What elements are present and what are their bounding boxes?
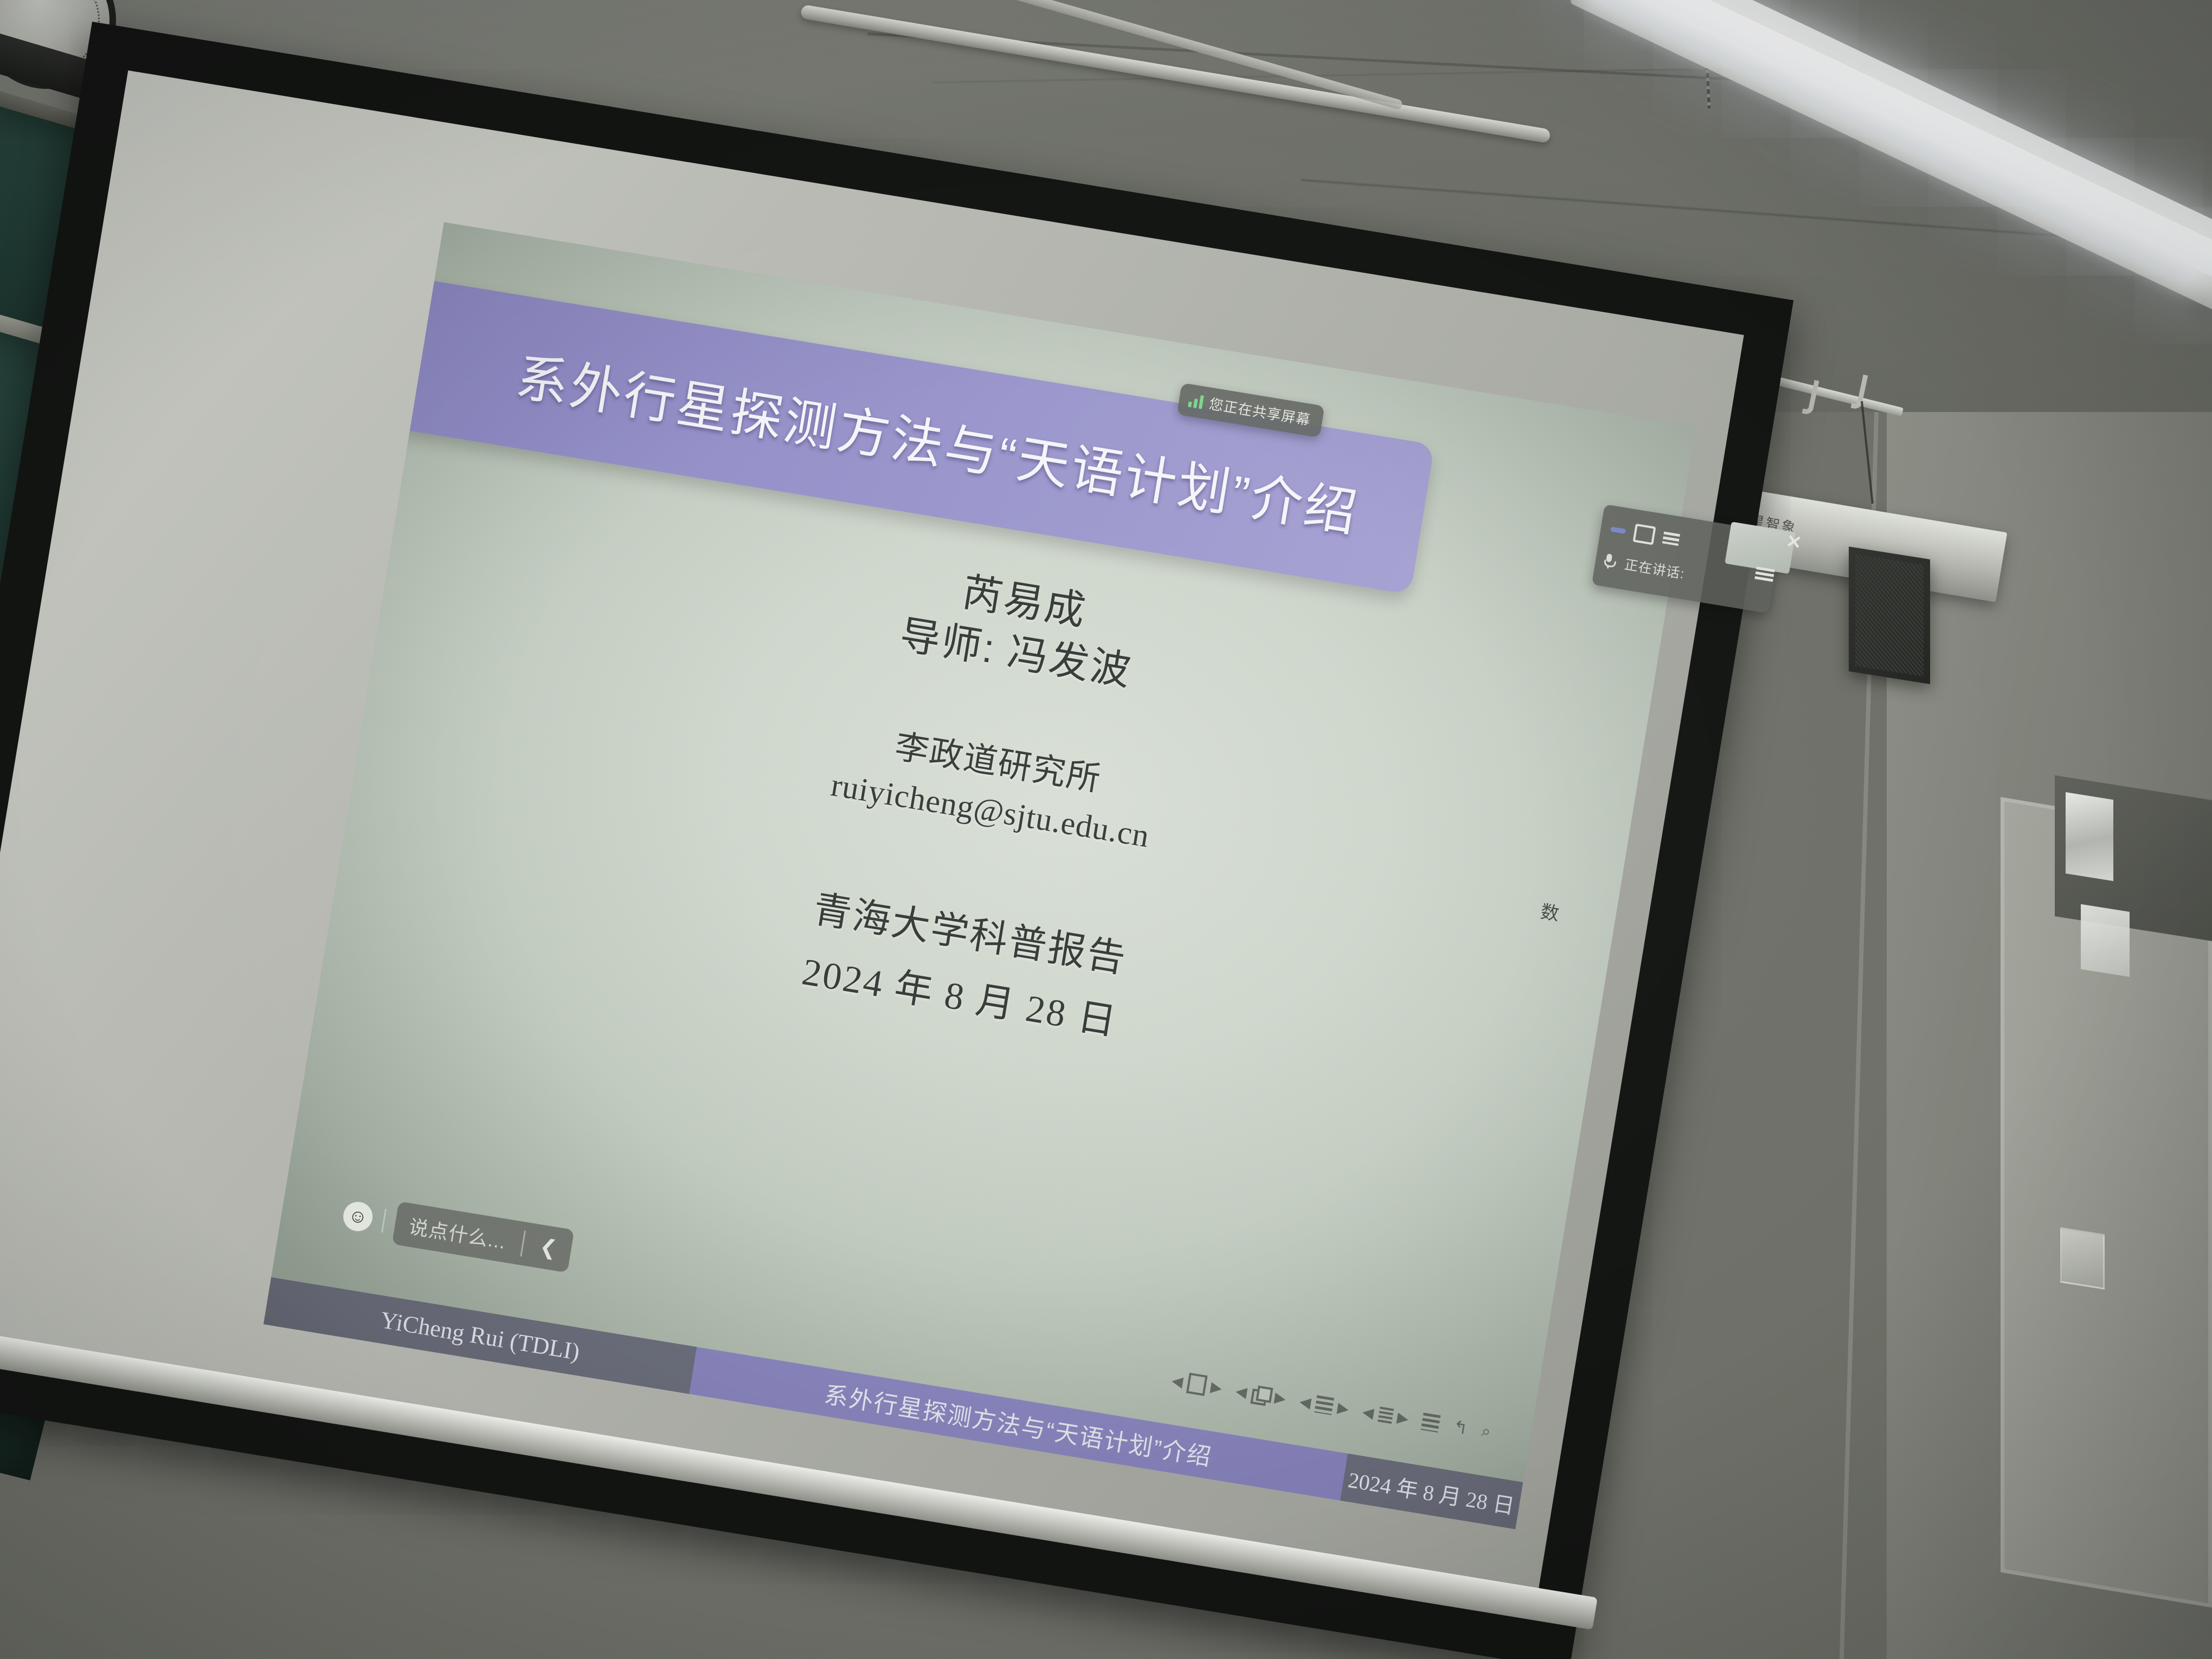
signal-bars-icon	[1188, 393, 1204, 409]
slides-icon[interactable]	[1250, 1385, 1271, 1405]
nav-group-frame[interactable]: ◀ ▶	[1170, 1370, 1223, 1399]
frame-icon[interactable]	[1186, 1373, 1208, 1396]
next-subsection-icon[interactable]: ▶	[1336, 1400, 1350, 1417]
prev-frame-icon[interactable]: ◀	[1171, 1373, 1184, 1389]
screenshot-root: 三星智象 系外行星探测方法与“天语计划”介绍 芮易成 导师: 冯发波	[0, 0, 2212, 1659]
menu-icon[interactable]	[1662, 531, 1680, 546]
search-icon[interactable]: ⌕	[1480, 1422, 1492, 1442]
back-icon[interactable]: ↰	[1452, 1416, 1470, 1439]
prev-section-icon[interactable]: ◀	[1361, 1404, 1375, 1420]
participants-icon[interactable]	[1754, 567, 1775, 583]
prev-slide-icon[interactable]: ◀	[1234, 1384, 1248, 1400]
next-slide-icon[interactable]: ▶	[1274, 1390, 1287, 1406]
projected-slide: 系外行星探测方法与“天语计划”介绍 芮易成 导师: 冯发波 李政道研究所 rui…	[263, 222, 1696, 1529]
chat-separator	[381, 1209, 387, 1233]
prev-subsection-icon[interactable]: ◀	[1298, 1394, 1312, 1410]
chat-divider	[520, 1231, 526, 1257]
next-section-icon[interactable]: ▶	[1396, 1410, 1410, 1426]
projection-screen-border: 系外行星探测方法与“天语计划”介绍 芮易成 导师: 冯发波 李政道研究所 rui…	[0, 22, 1793, 1659]
collapse-chevron-icon[interactable]: ❮	[538, 1236, 559, 1259]
toc-icon[interactable]	[1421, 1413, 1441, 1433]
projection-screen-assembly: 系外行星探测方法与“天语计划”介绍 芮易成 导师: 冯发波 李政道研究所 rui…	[0, 0, 2212, 1659]
slide-body: 芮易成 导师: 冯发波 李政道研究所 ruiyicheng@sjtu.edu.c…	[330, 474, 1655, 1124]
nav-group-section[interactable]: ◀ ▶	[1361, 1404, 1410, 1426]
minimize-icon[interactable]	[1610, 526, 1626, 533]
speaking-status-row: 正在讲话:	[1603, 550, 1686, 583]
next-frame-icon[interactable]: ▶	[1210, 1379, 1223, 1396]
emoji-icon[interactable]: ☺	[341, 1200, 375, 1233]
chat-placeholder: 说点什么...	[407, 1211, 509, 1255]
meeting-panel-toolbar[interactable]	[1609, 520, 1681, 549]
window-icon[interactable]	[1632, 524, 1656, 545]
microphone-icon[interactable]	[1603, 553, 1614, 568]
nav-group-slides[interactable]: ◀ ▶	[1234, 1382, 1287, 1407]
nav-group-subsection[interactable]: ◀ ▶	[1298, 1393, 1350, 1418]
speaking-label: 正在讲话:	[1623, 554, 1686, 583]
section-icon[interactable]	[1378, 1406, 1394, 1424]
subsection-icon[interactable]	[1314, 1395, 1334, 1415]
beamer-navigation-bar[interactable]: ◀ ▶ ◀ ▶ ◀ ▶	[1170, 1370, 1492, 1443]
